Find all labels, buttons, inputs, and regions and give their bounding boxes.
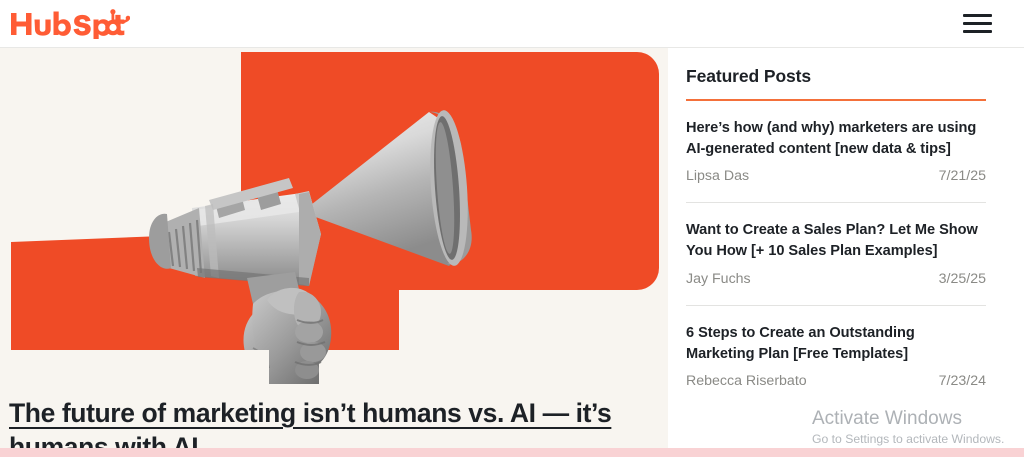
bottom-accent-strip — [0, 448, 1024, 457]
featured-posts-sidebar: Featured Posts Here’s how (and why) mark… — [668, 48, 1024, 457]
megaphone-illustration-icon — [9, 52, 660, 384]
featured-post-author[interactable]: Lipsa Das — [686, 168, 749, 184]
hamburger-bar-1 — [963, 14, 992, 17]
page-root: The future of marketing isn’t humans vs.… — [0, 0, 1024, 457]
featured-post-title[interactable]: 6 Steps to Create an Outstanding Marketi… — [686, 323, 986, 364]
featured-post-meta: Jay Fuchs 3/25/25 — [686, 271, 986, 287]
featured-post-meta: Rebecca Riserbato 7/23/24 — [686, 373, 986, 389]
featured-post-title[interactable]: Want to Create a Sales Plan? Let Me Show… — [686, 220, 986, 261]
featured-post-item[interactable]: Want to Create a Sales Plan? Let Me Show… — [686, 203, 986, 286]
featured-post-title[interactable]: Here’s how (and why) marketers are using… — [686, 118, 986, 159]
featured-post-item[interactable]: 6 Steps to Create an Outstanding Marketi… — [686, 306, 986, 389]
featured-post-author[interactable]: Rebecca Riserbato — [686, 373, 807, 389]
featured-post-date: 3/25/25 — [939, 271, 986, 287]
featured-post-item[interactable]: Here’s how (and why) marketers are using… — [686, 101, 986, 184]
featured-post-date: 7/23/24 — [939, 373, 986, 389]
main-content-column: The future of marketing isn’t humans vs.… — [0, 48, 668, 457]
featured-post-date: 7/21/25 — [939, 168, 986, 184]
featured-posts-heading: Featured Posts — [686, 58, 986, 87]
hubspot-logo-icon — [10, 9, 130, 39]
site-header — [0, 0, 1024, 48]
hamburger-bar-2 — [963, 22, 992, 25]
hamburger-menu-icon[interactable] — [960, 9, 994, 39]
hubspot-logo[interactable] — [10, 7, 130, 41]
hero-article-image[interactable] — [9, 52, 660, 384]
hamburger-bar-3 — [963, 30, 992, 33]
featured-post-author[interactable]: Jay Fuchs — [686, 271, 751, 287]
featured-post-meta: Lipsa Das 7/21/25 — [686, 168, 986, 184]
hubspot-sprocket-icon — [105, 9, 130, 35]
